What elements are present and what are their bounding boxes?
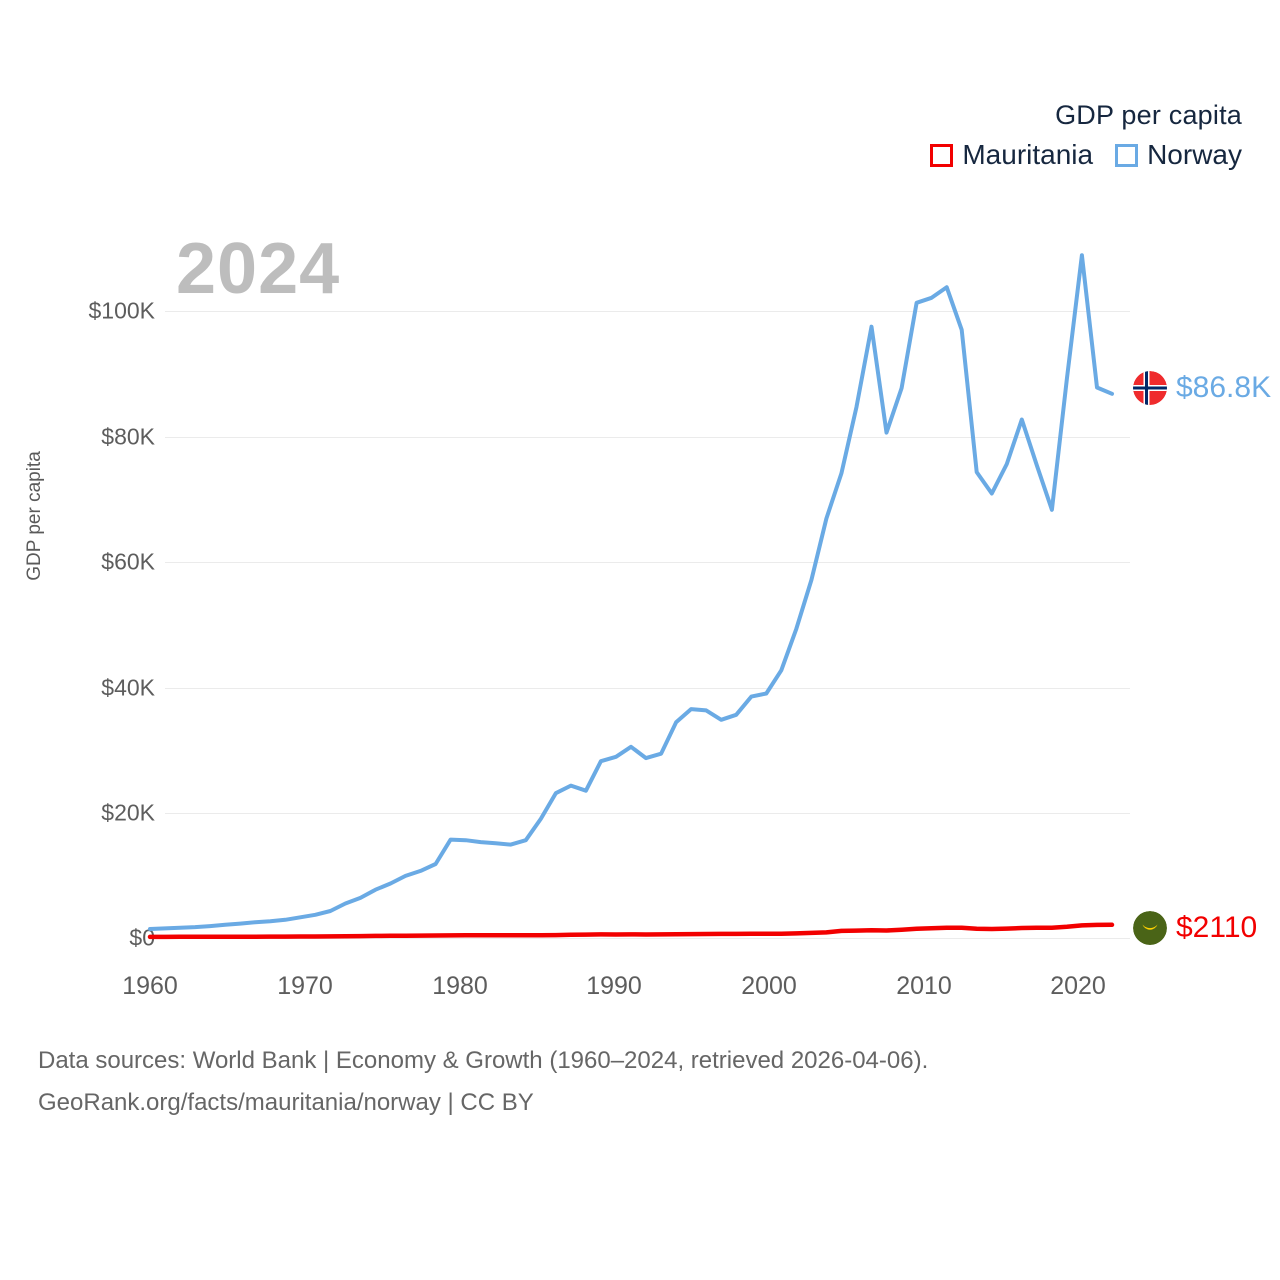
footer-line-2: GeoRank.org/facts/mauritania/norway | CC… xyxy=(38,1082,928,1124)
line-norway[interactable] xyxy=(150,255,1112,929)
line-mauritania[interactable] xyxy=(150,925,1112,937)
norway-flag-icon xyxy=(1133,371,1167,405)
endpoint-norway[interactable]: $86.8K xyxy=(1133,371,1271,405)
footer-line-1: Data sources: World Bank | Economy & Gro… xyxy=(38,1040,928,1082)
chart-page: GDP per capita Mauritania Norway 2024 GD… xyxy=(0,0,1280,1280)
endpoint-value-mauritania: $2110 xyxy=(1176,913,1257,943)
footer-credits: Data sources: World Bank | Economy & Gro… xyxy=(38,1040,928,1124)
endpoint-mauritania[interactable]: $2110 xyxy=(1133,911,1257,945)
mauritania-flag-icon xyxy=(1133,911,1167,945)
endpoint-value-norway: $86.8K xyxy=(1176,373,1271,403)
